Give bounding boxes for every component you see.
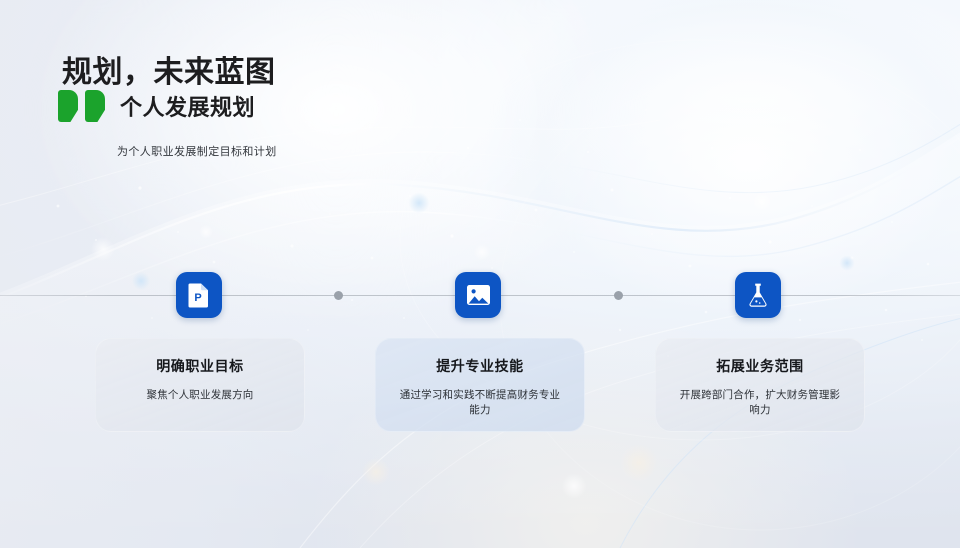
step-card[interactable]: 明确职业目标 聚焦个人职业发展方向 (95, 338, 305, 432)
flask-lab-icon[interactable] (735, 272, 781, 318)
page-subtitle: 个人发展规划 (120, 90, 255, 122)
presentation-document-icon[interactable]: P (176, 272, 222, 318)
step-card-body: 开展跨部门合作，扩大财务管理影响力 (656, 388, 864, 418)
page-title: 规划，未来蓝图 (62, 47, 276, 91)
svg-text:P: P (194, 292, 201, 304)
step-card[interactable]: 拓展业务范围 开展跨部门合作，扩大财务管理影响力 (655, 338, 865, 432)
step-card[interactable]: 提升专业技能 通过学习和实践不断提高财务专业能力 (375, 338, 585, 432)
step-card-title: 提升专业技能 (376, 357, 584, 375)
timeline-connector-dot (334, 291, 343, 300)
step-card-title: 拓展业务范围 (656, 357, 864, 375)
quote-mark-icon (58, 90, 106, 124)
step-card-body: 通过学习和实践不断提高财务专业能力 (376, 388, 584, 418)
image-picture-icon[interactable] (455, 272, 501, 318)
step-card-title: 明确职业目标 (96, 357, 304, 375)
slide-canvas: 规划，未来蓝图 个人发展规划 为个人职业发展制定目标和计划 P 明确职业目标 聚… (0, 0, 960, 548)
timeline-connector-dot (614, 291, 623, 300)
step-card-body: 聚焦个人职业发展方向 (96, 388, 304, 403)
page-description: 为个人职业发展制定目标和计划 (117, 143, 277, 159)
